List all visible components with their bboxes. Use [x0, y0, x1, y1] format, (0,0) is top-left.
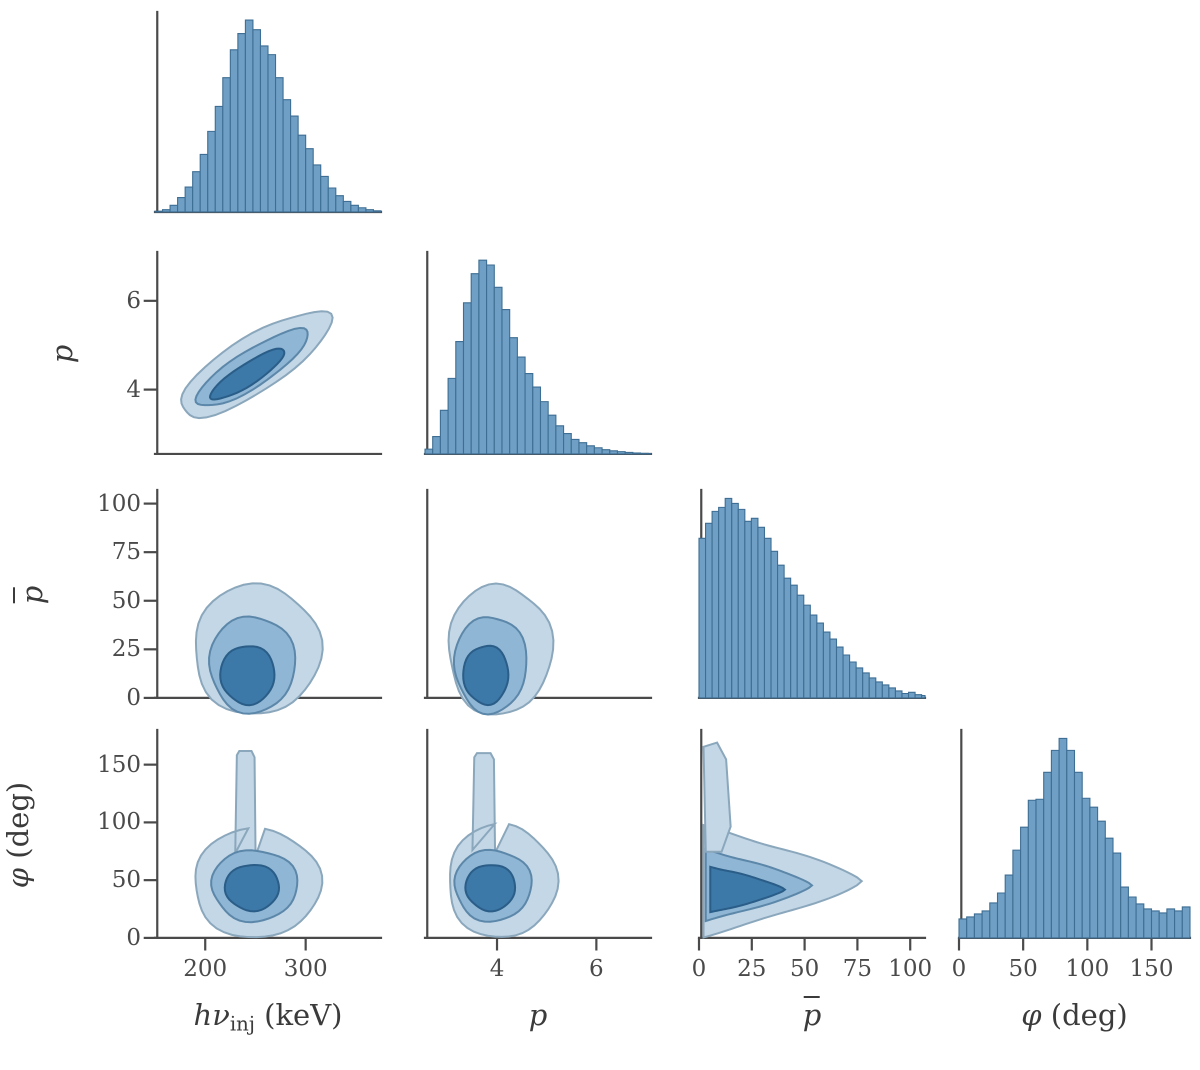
histogram-bar — [699, 538, 706, 698]
histogram-bar — [1082, 798, 1090, 938]
histogram-bar — [351, 205, 359, 212]
y-tick-label-pbar-3: 75 — [112, 539, 141, 565]
x-axis-label-p: p — [529, 998, 548, 1032]
hist-panel-phi — [959, 730, 1190, 940]
histogram-bar — [343, 201, 351, 212]
histogram-bar — [725, 498, 732, 698]
histogram-bar — [193, 172, 201, 212]
histogram-bar — [641, 453, 649, 454]
histogram-bar — [1013, 850, 1021, 938]
histogram-bar — [487, 265, 495, 454]
histogram-bar — [706, 523, 713, 698]
histogram-bar — [602, 450, 610, 454]
histogram-bar — [1121, 887, 1129, 938]
histogram-bar — [990, 903, 998, 938]
histogram-bar — [260, 46, 268, 212]
x-tick-label-pbar-3: 75 — [843, 956, 872, 982]
histogram-bar — [433, 437, 441, 454]
hist-panel-p — [425, 252, 651, 456]
histogram-bar — [804, 605, 811, 698]
x-tick-label-phi-3: 150 — [1130, 956, 1174, 982]
y-tick-label-pbar-4: 100 — [97, 491, 141, 517]
histogram-bar — [328, 188, 336, 212]
histogram-bar — [268, 55, 276, 212]
histogram-bar — [784, 578, 791, 698]
corner-plot: 2003004602550751000501001504602550751000… — [0, 0, 1200, 1070]
histogram-bar — [463, 303, 471, 454]
histogram-bar — [1159, 913, 1167, 938]
x-tick-label-phi-1: 50 — [1009, 956, 1038, 982]
histogram-bar — [1128, 897, 1136, 938]
histogram-bar — [1113, 853, 1121, 938]
histogram-bar — [230, 50, 238, 212]
histogram-bar — [895, 691, 902, 698]
histogram-bar — [830, 639, 837, 698]
y-tick-label-phi-1: 50 — [112, 867, 141, 893]
histogram-bar — [791, 585, 798, 698]
y-tick-label-phi-3: 150 — [97, 752, 141, 778]
x-tick-label-pbar-4: 100 — [888, 956, 932, 982]
contour-panel-hnu-vs-pbar — [155, 490, 381, 700]
contour-panel-pbar-vs-phi — [699, 730, 925, 940]
histogram-bar — [1167, 909, 1175, 938]
histogram-bar — [856, 668, 863, 698]
histogram-bar — [902, 694, 909, 698]
x-tick-label-pbar-0: 0 — [692, 956, 707, 982]
contour-level-3sigma-tail — [704, 743, 731, 852]
histogram-bar — [719, 507, 726, 698]
histogram-bar — [1098, 821, 1106, 938]
histogram-bar — [837, 647, 844, 698]
histogram-bar — [1021, 827, 1029, 938]
histogram-bar — [889, 688, 896, 698]
histogram-bar — [448, 378, 456, 454]
histogram-bar — [850, 662, 857, 698]
histogram-bar — [587, 446, 595, 454]
histogram-bar — [479, 260, 487, 454]
contour-panel-hnu-vs-p — [155, 252, 381, 456]
histogram-bar — [366, 210, 374, 212]
histogram-bar — [502, 310, 510, 454]
histogram-bar — [610, 451, 618, 454]
histogram-bar — [1051, 750, 1059, 938]
x-tick-label-hnu-1: 300 — [284, 956, 328, 982]
y-tick-label-phi-2: 100 — [97, 809, 141, 835]
histogram-bar — [967, 917, 975, 938]
histogram-bar — [998, 893, 1006, 938]
histogram-bar — [298, 135, 306, 212]
histogram-bar — [823, 632, 830, 698]
y-tick-label-pbar-2: 50 — [112, 588, 141, 614]
histogram-bar — [922, 696, 925, 698]
contour-panel-p-vs-pbar — [425, 490, 651, 700]
x-axis-label-hnu: hνinj (keV) — [194, 998, 343, 1036]
histogram-bar — [533, 387, 541, 454]
histogram-bar — [321, 176, 329, 212]
histogram-bar — [185, 187, 193, 212]
x-tick-label-phi-2: 100 — [1065, 956, 1109, 982]
contour-panel-p-vs-phi — [425, 730, 651, 940]
histogram-bar — [440, 410, 448, 454]
histogram-bar — [291, 116, 299, 212]
histogram-bar — [471, 274, 479, 454]
histogram-bar — [1105, 838, 1113, 938]
histogram-bar — [797, 595, 804, 698]
histogram-bar — [564, 434, 572, 454]
histogram-bar — [283, 100, 291, 212]
y-tick-label-phi-0: 0 — [126, 925, 141, 951]
histogram-bar — [1067, 750, 1075, 938]
histogram-bar — [556, 426, 564, 454]
histogram-bar — [778, 565, 785, 698]
histogram-bar — [571, 439, 579, 454]
histogram-bar — [245, 20, 253, 212]
histogram-bar — [1075, 772, 1083, 938]
y-tick-label-pbar-1: 25 — [112, 636, 141, 662]
histogram-bar — [1005, 875, 1013, 938]
hist-panel-hnu — [155, 12, 381, 214]
contour-panel-hnu-vs-phi — [155, 730, 381, 940]
x-axis-label-phi: φ (deg) — [1021, 998, 1127, 1032]
histogram-bar — [313, 165, 321, 212]
histogram-bar — [540, 402, 548, 454]
histogram-bar — [817, 623, 824, 698]
x-tick-label-p-1: 6 — [589, 956, 604, 982]
histogram-bar — [1175, 911, 1183, 938]
histogram-bar — [373, 211, 381, 212]
x-tick-label-p-0: 4 — [490, 956, 505, 982]
histogram-bar — [915, 695, 922, 698]
histogram-bar — [494, 287, 502, 454]
histogram-bar — [155, 211, 163, 212]
histogram-bar — [276, 78, 284, 212]
histogram-bar — [200, 154, 208, 212]
y-axis-label-p: p — [45, 345, 79, 364]
histogram-bar — [974, 914, 982, 938]
histogram-bar — [771, 551, 778, 698]
histogram-bar — [1036, 799, 1044, 938]
histogram-bar — [358, 208, 366, 212]
histogram-bar — [425, 449, 433, 454]
histogram-bar — [1090, 807, 1098, 938]
histogram-bar — [223, 78, 231, 212]
histogram-bar — [253, 30, 261, 212]
y-axis-label-pbar: p — [15, 586, 49, 605]
histogram-bar — [959, 919, 967, 938]
histogram-bar — [178, 198, 186, 212]
histogram-bar — [517, 357, 525, 454]
x-tick-label-pbar-2: 50 — [790, 956, 819, 982]
histogram-bar — [215, 106, 223, 212]
histogram-bar — [594, 448, 602, 454]
histogram-bar — [1044, 772, 1052, 938]
histogram-bar — [617, 452, 625, 454]
x-axis-label-pbar: p — [803, 998, 822, 1032]
histogram-bar — [751, 518, 758, 698]
histogram-bar — [764, 538, 771, 698]
histogram-bar — [863, 673, 870, 698]
histogram-bar — [633, 453, 641, 454]
histogram-bar — [548, 415, 556, 454]
histogram-bar — [238, 34, 246, 212]
y-axis-label-phi: φ (deg) — [1, 782, 35, 888]
histogram-bar — [306, 149, 314, 212]
histogram-bar — [163, 210, 171, 212]
y-tick-label-p-0: 4 — [126, 377, 141, 403]
histogram-bar — [1152, 911, 1160, 938]
histogram-bar — [1182, 907, 1190, 938]
histogram-bar — [869, 678, 876, 698]
histogram-bar — [745, 521, 752, 698]
histogram-bar — [758, 527, 765, 698]
histogram-bar — [876, 682, 883, 698]
histogram-bar — [1136, 904, 1144, 938]
histogram-bar — [1059, 738, 1067, 938]
histogram-bar — [732, 503, 739, 698]
histogram-bar — [579, 443, 587, 454]
histogram-bar — [982, 911, 990, 938]
histogram-bar — [208, 131, 216, 212]
y-tick-label-pbar-0: 0 — [126, 685, 141, 711]
histogram-bar — [843, 655, 850, 698]
histogram-bar — [625, 452, 633, 454]
y-tick-label-p-1: 6 — [126, 288, 141, 314]
x-tick-label-phi-0: 0 — [952, 956, 967, 982]
histogram-bar — [525, 374, 533, 454]
histogram-bar — [456, 342, 464, 454]
histogram-bar — [738, 509, 745, 698]
histogram-bar — [510, 338, 518, 454]
histogram-bar — [1028, 800, 1036, 938]
histogram-bar — [336, 196, 344, 212]
x-tick-label-pbar-1: 25 — [737, 956, 766, 982]
histogram-bar — [712, 511, 719, 698]
histogram-bar — [1144, 909, 1152, 938]
histogram-bar — [882, 685, 889, 698]
histogram-bar — [810, 615, 817, 698]
hist-panel-pbar — [699, 490, 925, 700]
x-tick-label-hnu-0: 200 — [183, 956, 227, 982]
histogram-bar — [909, 692, 916, 698]
histogram-bar — [170, 205, 178, 212]
